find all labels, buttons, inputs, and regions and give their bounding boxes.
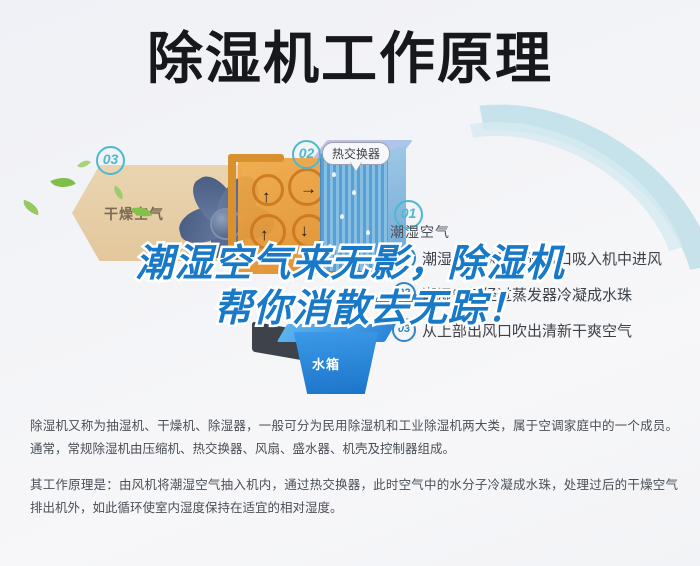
overlay-line1: 潮湿空气来无影，除湿机 [135,243,564,285]
badge-02: 02 [292,140,321,169]
leaf-icon [50,172,75,193]
condensation-droplet-icon [332,172,336,177]
page-title: 除湿机工作原理 [0,26,700,92]
flow-arrow-right-icon: → [300,180,317,197]
body-paragraph-1: 除湿机又称为抽湿机、干燥机、除湿器，一般可分为民用除湿机和工业除湿机两大类，属于… [30,415,678,461]
flow-arrow-up-icon: ↑ [260,226,269,243]
condensation-droplet-icon [352,190,356,195]
badge-03: 03 [96,146,125,175]
overlay-headline: 潮湿空气来无影，除湿机 帮你消散去无踪！ [0,242,700,332]
body-paragraph-2: 其工作原理是：由风机将潮湿空气抽入机内，通过热交换器，此时空气中的水分子冷凝成水… [30,474,678,520]
overlay-line2: 帮你消散去无踪！ [0,287,700,332]
leaf-icon [21,200,41,216]
humid-air-label: 潮湿空气 [390,222,450,242]
flow-arrow-up-icon: ↑ [262,188,271,205]
condensation-droplet-icon [366,230,370,235]
page-title-part2: 工作原理 [321,27,553,90]
flow-arrow-down-icon: ↓ [300,222,309,239]
poster-root: 除湿机工作原理 干燥空气 ↑ → [0,0,700,566]
page-title-part1: 除湿机 [147,27,321,90]
refrigerant-pipe [228,154,284,162]
callout-tail-icon [350,161,362,171]
condensation-droplet-icon [340,214,344,219]
water-tank-label: 水箱 [312,354,340,373]
leaf-icon [77,157,91,171]
body-copy: 除湿机又称为抽湿机、干燥机、除湿器，一般可分为民用除湿机和工业除湿机两大类，属于… [30,415,678,533]
